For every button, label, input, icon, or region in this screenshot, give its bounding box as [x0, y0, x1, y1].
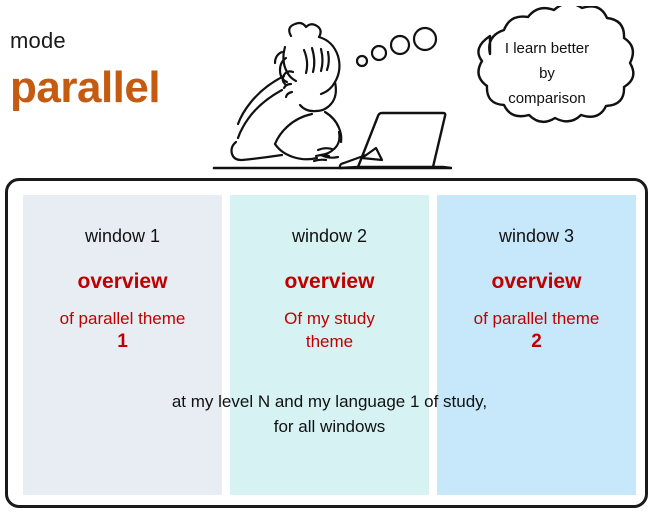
parallel-mode-panel: window 1 overview of parallel theme 1 wi…	[5, 178, 648, 508]
window-1-title: window 1	[23, 225, 222, 247]
window-2-overview-heading: overview	[230, 269, 429, 294]
window-1-subtitle-number: 1	[117, 331, 128, 352]
window-3-subtitle-text: of parallel theme	[474, 309, 600, 328]
window-column-3[interactable]: window 3 overview of parallel theme 2	[437, 195, 636, 495]
window-column-2[interactable]: window 2 overview Of my study theme	[230, 195, 429, 495]
window-3-subtitle: of parallel theme 2	[437, 307, 636, 353]
window-2-subtitle-number: theme	[306, 332, 353, 351]
window-3-overview-heading: overview	[437, 269, 636, 294]
window-2-subtitle: Of my study theme	[230, 307, 429, 353]
windows-container: window 1 overview of parallel theme 1 wi…	[23, 195, 636, 495]
header: mode parallel	[0, 0, 656, 178]
window-1-subtitle: of parallel theme 1	[23, 307, 222, 353]
window-2-subtitle-text: Of my study	[284, 309, 375, 328]
window-column-1[interactable]: window 1 overview of parallel theme 1	[23, 195, 222, 495]
window-1-overview-heading: overview	[23, 269, 222, 294]
window-1-subtitle-text: of parallel theme	[60, 309, 186, 328]
mode-label: mode	[10, 28, 66, 54]
window-2-title: window 2	[230, 225, 429, 247]
mode-value: parallel	[10, 62, 160, 114]
window-3-title: window 3	[437, 225, 636, 247]
thought-bubble: I learn better by comparison	[438, 6, 656, 148]
window-3-subtitle-number: 2	[531, 331, 542, 352]
